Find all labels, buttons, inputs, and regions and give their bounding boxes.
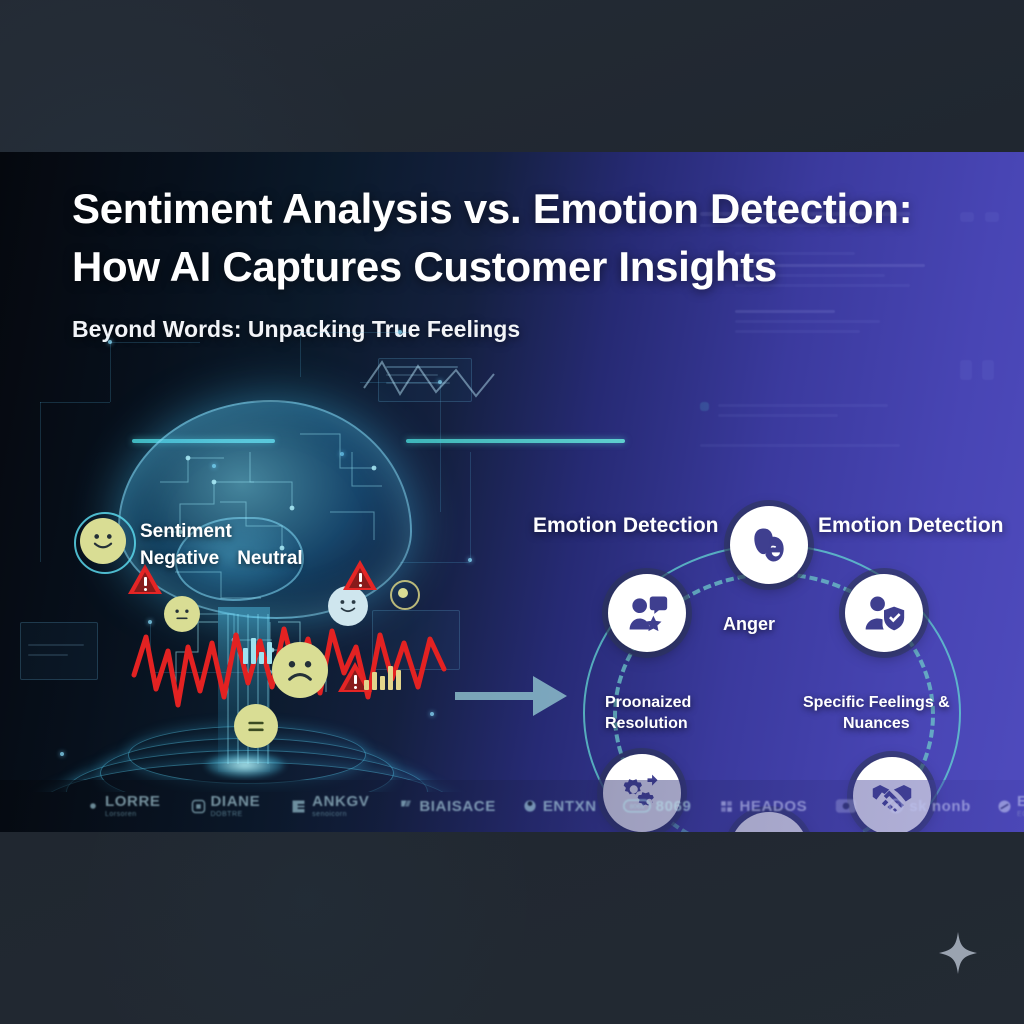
partner-logo: LORRELorsoren: [86, 794, 161, 818]
partner-logo-subtitle: DOBTRE: [211, 811, 261, 818]
partner-logo-subtitle: EONIK: [1017, 811, 1024, 818]
flag-icon: [399, 799, 414, 814]
partner-logo-subtitle: Lorsoren: [105, 811, 161, 818]
partner-logo-text: BIAISACE: [419, 799, 495, 814]
label-line-1: Specific Feelings &: [803, 692, 950, 713]
partner-logo-name: ENTXN: [543, 799, 597, 814]
partner-logo-name: HEADOS: [739, 799, 807, 814]
sentiment-negative-label: Negative: [140, 545, 219, 572]
sentiment-label-group: Sentiment Negative Neutral: [140, 518, 303, 572]
square-icon: [191, 799, 206, 814]
target-reticle-center: [398, 588, 408, 598]
emotion-detection-header-right: Emotion Detection: [818, 514, 1004, 538]
equals-badge-icon: [234, 704, 278, 748]
screenshot-root: Sentiment Analysis vs. Emotion Detection…: [0, 0, 1024, 1024]
pill-icon: 8069: [623, 799, 651, 813]
partner-logo-text: 8069: [656, 799, 692, 814]
sad-face-icon: [272, 642, 328, 698]
label-line-2: Nuances: [803, 713, 950, 734]
sparkle-icon: [937, 930, 979, 976]
label-specific-feelings: Specific Feelings & Nuances: [803, 692, 950, 734]
sentiment-neutral-label: Neutral: [237, 545, 302, 572]
partner-logo: [835, 798, 862, 814]
hologram-core-glow: [205, 752, 285, 778]
label-proonaized-resolution: Proonaized Resolution: [605, 692, 691, 734]
partner-logo: ECHEREONIK: [997, 794, 1024, 818]
leaf-icon: [997, 799, 1012, 814]
partner-logo-text: LORRELorsoren: [105, 794, 161, 818]
partner-logo-name: LORRE: [105, 794, 161, 809]
partner-logo-text: ANKGVsenoicorn: [312, 794, 369, 818]
emotion-detection-header-left: Emotion Detection: [533, 514, 719, 538]
cycle-center-label: Anger: [723, 614, 775, 635]
partner-logo-name: 8069: [656, 799, 692, 814]
partner-logo: 80698069: [623, 799, 692, 814]
orbit-icon: [522, 798, 538, 814]
cycle-node-masks[interactable]: [730, 506, 808, 584]
smiley-face-icon: [80, 518, 126, 564]
partner-logo: sk nonb: [888, 798, 971, 814]
shield-icon: [719, 799, 734, 814]
brain-scene: [0, 152, 520, 792]
hud-line-chart: [360, 352, 500, 412]
partner-logo: HEADOS: [719, 799, 807, 814]
theater-masks-icon: [747, 523, 791, 567]
partner-logo-strip: LORRELorsorenDIANEDOBTREANKGVsenoicornBI…: [0, 780, 1024, 832]
cycle-node-feedback[interactable]: [608, 574, 686, 652]
dot-icon: [86, 799, 100, 813]
cycle-node-trust[interactable]: [845, 574, 923, 652]
partner-logo-name: BIAISACE: [419, 799, 495, 814]
bar-chart-icon: [364, 660, 401, 690]
sentiment-label: Sentiment: [140, 518, 303, 545]
partner-logo-text: sk nonb: [909, 799, 971, 814]
partner-logo-name: ANKGV: [312, 794, 369, 809]
partner-logo: DIANEDOBTRE: [191, 794, 261, 818]
label-line-2: Resolution: [605, 713, 691, 734]
neutral-face-icon: [164, 596, 200, 632]
svg-text:8069: 8069: [629, 803, 644, 810]
partner-logo-name: DIANE: [211, 794, 261, 809]
smiley-face-small-icon: [328, 586, 368, 626]
partner-logo-text: DIANEDOBTRE: [211, 794, 261, 818]
bracket-icon: [290, 798, 307, 815]
bar-chart-icon: [243, 632, 272, 664]
label-line-1: Proonaized: [605, 692, 691, 713]
partner-logo-name: ECHER: [1017, 794, 1024, 809]
circlex-icon: [888, 798, 904, 814]
partner-logo-subtitle: senoicorn: [312, 811, 369, 818]
partner-logo: ENTXN: [522, 798, 597, 814]
partner-logo: ANKGVsenoicorn: [290, 794, 369, 818]
infographic-banner: Sentiment Analysis vs. Emotion Detection…: [0, 152, 1024, 832]
partner-logo-text: ENTXN: [543, 799, 597, 814]
partner-logo-text: ECHEREONIK: [1017, 794, 1024, 818]
tag-icon: [835, 798, 857, 814]
partner-logo: BIAISACE: [399, 799, 495, 814]
partner-logo-name: sk nonb: [909, 799, 971, 814]
chat-star-icon: [625, 591, 669, 635]
partner-logo-text: HEADOS: [739, 799, 807, 814]
flow-arrow-icon: [455, 668, 575, 724]
shield-check-user-icon: [862, 591, 906, 635]
